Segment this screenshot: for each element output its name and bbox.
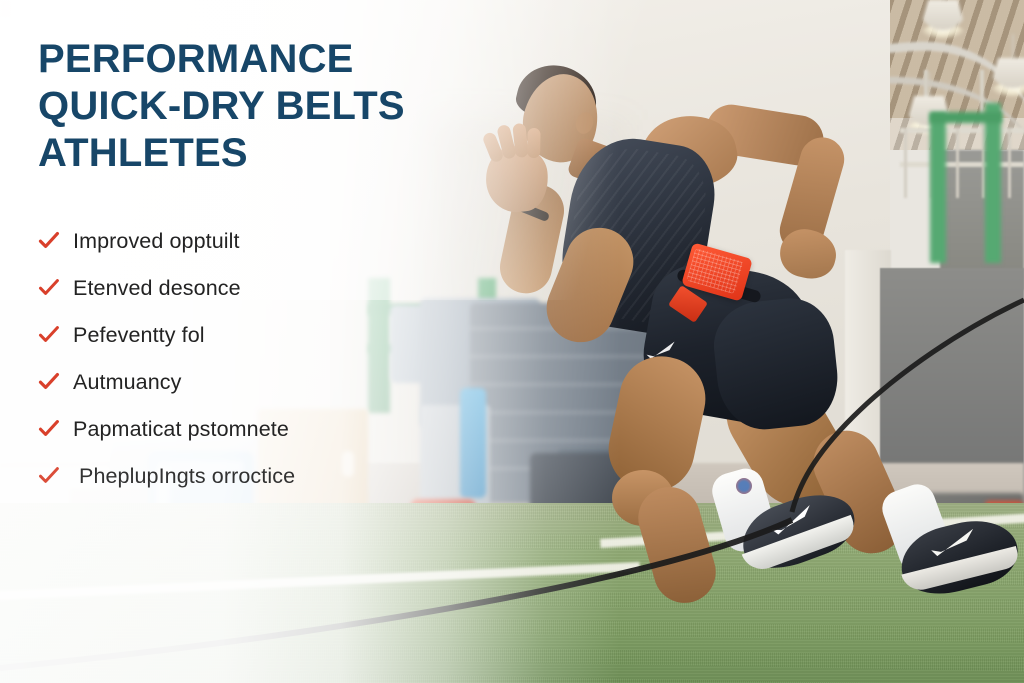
check-icon [38,465,60,487]
list-item: Pefeventty fol [38,311,558,358]
list-item: Papmaticat pstomnete [38,405,558,452]
list-item: PheplupIngts orroctice [38,452,558,499]
check-icon [38,418,60,440]
headline-line-1: PERFORMANCE [38,36,558,83]
check-icon [38,230,60,252]
front-shin [631,480,723,611]
feature-list: Improved opptuilt Etenved desonce Pefeve… [38,217,558,499]
list-item-label: PheplupIngts orroctice [73,463,295,489]
list-item: Autmuancy [38,358,558,405]
sock-logo-icon [736,478,752,494]
promo-poster: PERFORMANCE QUICK-DRY BELTS ATHLETES Imp… [0,0,1024,683]
headline-line-2: QUICK-DRY BELTS [38,83,558,130]
headline-line-3: ATHLETES [38,130,558,177]
check-icon [38,277,60,299]
check-icon [38,324,60,346]
list-item: Improved opptuilt [38,217,558,264]
list-item: Etenved desonce [38,264,558,311]
text-content: PERFORMANCE QUICK-DRY BELTS ATHLETES Imp… [38,36,558,499]
check-icon [38,371,60,393]
page-title: PERFORMANCE QUICK-DRY BELTS ATHLETES [38,36,558,177]
list-item-label: Improved opptuilt [73,228,240,254]
list-item-label: Autmuancy [73,369,181,395]
list-item-label: Etenved desonce [73,275,241,301]
list-item-label: Papmaticat pstomnete [73,416,289,442]
list-item-label: Pefeventty fol [73,322,205,348]
